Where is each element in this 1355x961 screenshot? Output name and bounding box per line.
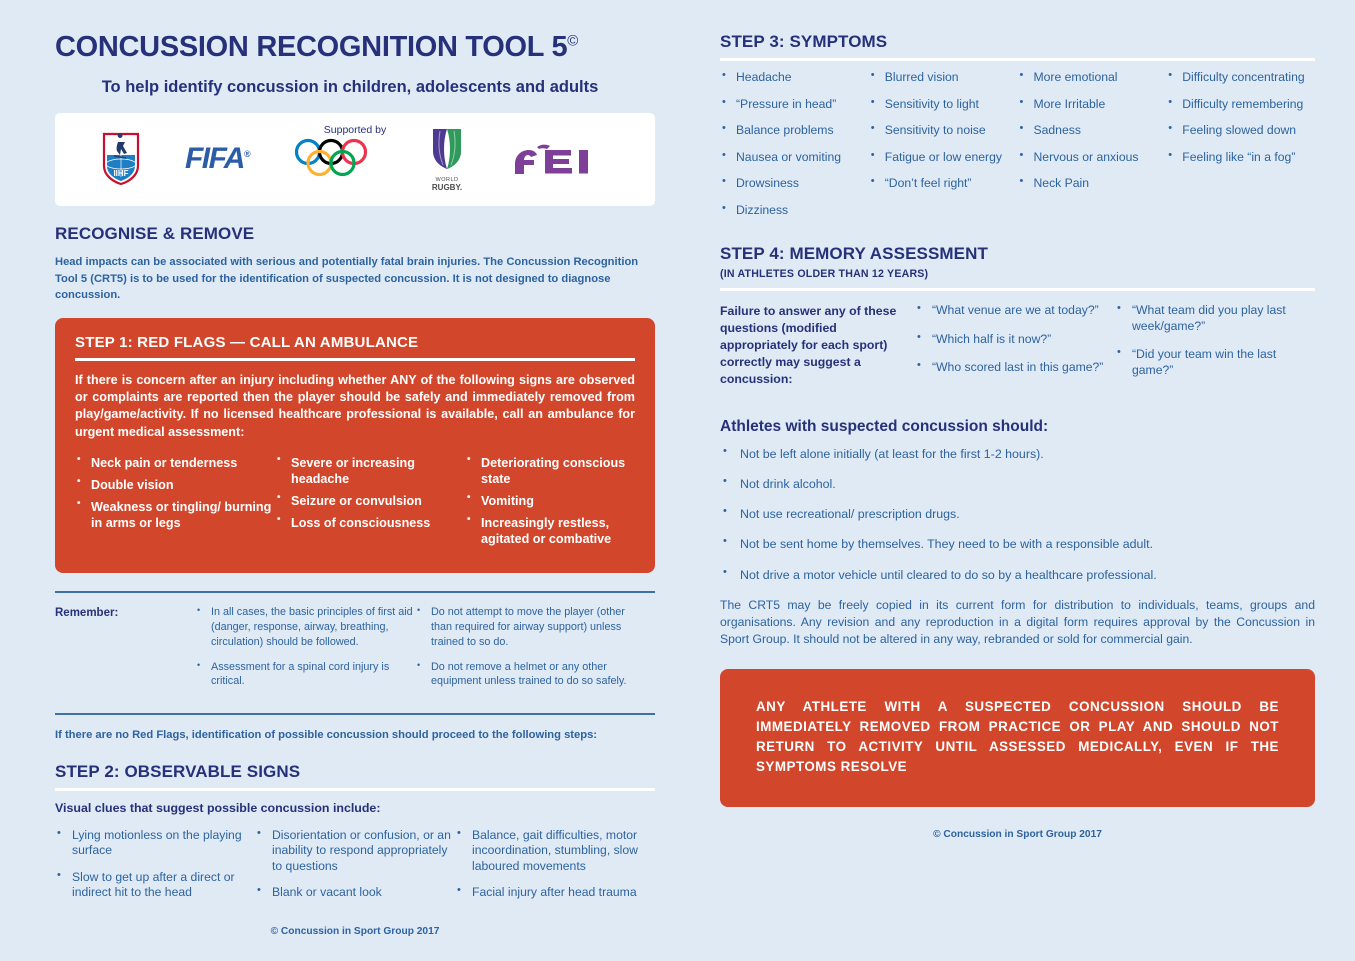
list-item: Slow to get up after a direct or indirec… xyxy=(55,870,255,901)
logo-bar: Supported by IIHF FIFA® xyxy=(55,113,655,206)
page-title-text: CONCUSSION RECOGNITION TOOL 5 xyxy=(55,31,567,63)
fifa-logo-text: FIFA® xyxy=(185,142,249,176)
step1-paragraph: If there is concern after an injury incl… xyxy=(75,372,635,441)
fifa-logo: FIFA® xyxy=(185,142,249,176)
step3-columns: Headache “Pressure in head” Balance prob… xyxy=(720,70,1315,230)
legal-notice: The CRT5 may be freely copied in its cur… xyxy=(720,597,1315,649)
list-item: Vomiting xyxy=(465,493,635,509)
list-item: Not be left alone initially (at least fo… xyxy=(720,446,1315,462)
step2-list-2: Disorientation or confusion, or an inabi… xyxy=(255,828,455,901)
step4-divider xyxy=(720,288,1315,291)
list-item: Not use recreational/ prescription drugs… xyxy=(720,506,1315,522)
step1-list-1: Neck pain or tenderness Double vision We… xyxy=(75,455,275,531)
list-item: Assessment for a spinal cord injury is c… xyxy=(195,660,415,690)
step2-divider xyxy=(55,788,655,791)
step3-list-3: More emotional More Irritable Sadness Ne… xyxy=(1018,70,1161,192)
remember-label: Remember: xyxy=(55,605,195,619)
recognise-remove-paragraph: Head impacts can be associated with seri… xyxy=(55,254,655,304)
world-rugby-logo: WORLD RUGBY. xyxy=(429,127,465,192)
step2-heading: STEP 2: OBSERVABLE SIGNS xyxy=(55,762,655,782)
right-column: STEP 3: SYMPTOMS Headache “Pressure in h… xyxy=(700,0,1355,961)
olympic-rings-icon xyxy=(293,138,385,180)
step4-lead-text: Failure to answer any of these questions… xyxy=(720,303,915,392)
step3-column-4: Difficulty concentrating Difficulty reme… xyxy=(1166,70,1315,230)
remember-list-1: In all cases, the basic principles of fi… xyxy=(195,605,415,689)
list-item: Not drink alcohol. xyxy=(720,476,1315,492)
fei-logo xyxy=(509,142,609,176)
remember-divider-bottom xyxy=(55,713,655,715)
step1-column-2: Severe or increasing headache Seizure or… xyxy=(275,455,465,554)
list-item: Sadness xyxy=(1018,123,1161,139)
step4-heading: STEP 4: MEMORY ASSESSMENT xyxy=(720,244,1315,264)
list-item: “Who scored last in this game?” xyxy=(915,360,1105,376)
list-item: Disorientation or confusion, or an inabi… xyxy=(255,828,455,875)
no-red-flags-note: If there are no Red Flags, identificatio… xyxy=(55,727,655,744)
list-item: Blank or vacant look xyxy=(255,885,455,901)
step1-list-2: Severe or increasing headache Seizure or… xyxy=(275,455,465,531)
step1-columns: Neck pain or tenderness Double vision We… xyxy=(75,455,635,554)
list-item: “Which half is it now?” xyxy=(915,332,1105,348)
remember-column-1: In all cases, the basic principles of fi… xyxy=(195,605,415,699)
step4-column-2: “What team did you play last week/game?”… xyxy=(1115,303,1315,392)
remember-divider-top xyxy=(55,591,655,593)
step4-list-1: “What venue are we at today?” “Which hal… xyxy=(915,303,1105,377)
crt5-document: CONCUSSION RECOGNITION TOOL 5© To help i… xyxy=(0,0,1355,961)
list-item: Feeling like “in a fog” xyxy=(1166,150,1309,166)
step3-heading: STEP 3: SYMPTOMS xyxy=(720,32,1315,52)
list-item: More emotional xyxy=(1018,70,1161,86)
list-item: Lying motionless on the playing surface xyxy=(55,828,255,859)
list-item: Facial injury after head trauma xyxy=(455,885,655,901)
world-rugby-shield-icon xyxy=(429,127,465,171)
list-item: Double vision xyxy=(75,477,275,493)
step3-list-2: Blurred vision Sensitivity to light Sens… xyxy=(869,70,1012,192)
page-subtitle: To help identify concussion in children,… xyxy=(55,78,655,97)
iihf-logo: IIHF xyxy=(101,131,141,187)
list-item: Difficulty remembering xyxy=(1166,97,1309,113)
athletes-should-heading: Athletes with suspected concussion shoul… xyxy=(720,418,1315,436)
olympic-rings-logo xyxy=(293,138,385,180)
list-item: Headache xyxy=(720,70,863,86)
list-item: Sensitivity to light xyxy=(869,97,1012,113)
page-title: CONCUSSION RECOGNITION TOOL 5© xyxy=(55,32,655,64)
list-item: Do not attempt to move the player (other… xyxy=(415,605,635,650)
supported-by-label: Supported by xyxy=(324,124,386,136)
step1-column-3: Deteriorating conscious state Vomiting I… xyxy=(465,455,635,554)
list-item: Dizziness xyxy=(720,203,863,219)
step4-subheading: (IN ATHLETES OLDER THAN 12 YEARS) xyxy=(720,268,1315,280)
list-item: Blurred vision xyxy=(869,70,1012,86)
list-item: Deteriorating conscious state xyxy=(465,455,635,487)
left-copyright: © Concussion in Sport Group 2017 xyxy=(55,926,655,937)
list-item: “Did your team win the last game?” xyxy=(1115,347,1305,379)
list-item: “What venue are we at today?” xyxy=(915,303,1105,319)
list-item: Feeling slowed down xyxy=(1166,123,1309,139)
step4-column-1: “What venue are we at today?” “Which hal… xyxy=(915,303,1115,392)
remember-column-2: Do not attempt to move the player (other… xyxy=(415,605,635,699)
step2-column-2: Disorientation or confusion, or an inabi… xyxy=(255,828,455,912)
step3-column-3: More emotional More Irritable Sadness Ne… xyxy=(1018,70,1167,230)
step1-red-flags-box: STEP 1: RED FLAGS — CALL AN AMBULANCE If… xyxy=(55,318,655,573)
list-item: Seizure or convulsion xyxy=(275,493,465,509)
list-item: Balance, gait difficulties, motor incoor… xyxy=(455,828,655,875)
fei-logo-icon xyxy=(509,142,609,176)
right-copyright: © Concussion in Sport Group 2017 xyxy=(720,829,1315,840)
left-column: CONCUSSION RECOGNITION TOOL 5© To help i… xyxy=(0,0,700,961)
list-item: In all cases, the basic principles of fi… xyxy=(195,605,415,650)
remember-list-2: Do not attempt to move the player (other… xyxy=(415,605,635,689)
recognise-remove-heading: RECOGNISE & REMOVE xyxy=(55,224,655,244)
list-item: Difficulty concentrating xyxy=(1166,70,1309,86)
step2-list-3: Balance, gait difficulties, motor incoor… xyxy=(455,828,655,901)
step2-list-1: Lying motionless on the playing surface … xyxy=(55,828,255,901)
list-item: Nervous or anxious xyxy=(1018,150,1161,166)
step1-column-1: Neck pain or tenderness Double vision We… xyxy=(75,455,275,554)
list-item: Not be sent home by themselves. They nee… xyxy=(720,536,1315,552)
step2-column-3: Balance, gait difficulties, motor incoor… xyxy=(455,828,655,912)
step1-list-3: Deteriorating conscious state Vomiting I… xyxy=(465,455,635,548)
list-item: Do not remove a helmet or any other equi… xyxy=(415,660,635,690)
list-item: More Irritable xyxy=(1018,97,1161,113)
step4-list-2: “What team did you play last week/game?”… xyxy=(1115,303,1305,379)
step3-list-4: Difficulty concentrating Difficulty reme… xyxy=(1166,70,1309,165)
list-item: Drowsiness xyxy=(720,176,863,192)
list-item: Fatigue or low energy xyxy=(869,150,1012,166)
list-item: Balance problems xyxy=(720,123,863,139)
step1-heading: STEP 1: RED FLAGS — CALL AN AMBULANCE xyxy=(75,334,635,351)
red-warning-banner: ANY ATHLETE WITH A SUSPECTED CONCUSSION … xyxy=(720,669,1315,807)
list-item: Weakness or tingling/ burning in arms or… xyxy=(75,499,275,531)
list-item: Increasingly restless, agitated or comba… xyxy=(465,515,635,547)
remember-block: Remember: In all cases, the basic princi… xyxy=(55,605,655,699)
svg-text:IIHF: IIHF xyxy=(113,169,128,178)
list-item: “Don’t feel right” xyxy=(869,176,1012,192)
step3-column-1: Headache “Pressure in head” Balance prob… xyxy=(720,70,869,230)
list-item: Severe or increasing headache xyxy=(275,455,465,487)
list-item: Sensitivity to noise xyxy=(869,123,1012,139)
step1-divider xyxy=(75,358,635,361)
list-item: Not drive a motor vehicle until cleared … xyxy=(720,567,1315,583)
step2-column-1: Lying motionless on the playing surface … xyxy=(55,828,255,912)
step2-lede: Visual clues that suggest possible concu… xyxy=(55,800,655,818)
list-item: Neck Pain xyxy=(1018,176,1161,192)
list-item: “Pressure in head” xyxy=(720,97,863,113)
copyright-superscript: © xyxy=(567,32,578,49)
list-item: “What team did you play last week/game?” xyxy=(1115,303,1305,335)
iihf-logo-icon: IIHF xyxy=(101,131,141,187)
athletes-should-list: Not be left alone initially (at least fo… xyxy=(720,446,1315,583)
step3-divider xyxy=(720,58,1315,61)
step2-columns: Lying motionless on the playing surface … xyxy=(55,828,655,912)
step3-list-1: Headache “Pressure in head” Balance prob… xyxy=(720,70,863,219)
list-item: Nausea or vomiting xyxy=(720,150,863,166)
world-rugby-caption: WORLD RUGBY. xyxy=(429,177,465,192)
list-item: Neck pain or tenderness xyxy=(75,455,275,471)
step3-column-2: Blurred vision Sensitivity to light Sens… xyxy=(869,70,1018,230)
list-item: Loss of consciousness xyxy=(275,515,465,531)
step4-columns: Failure to answer any of these questions… xyxy=(720,303,1315,392)
